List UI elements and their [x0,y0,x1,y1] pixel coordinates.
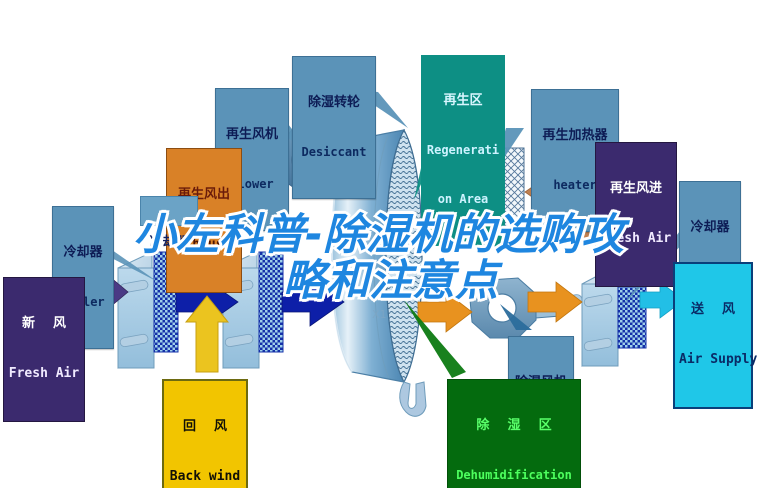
label-regeneration-fresh-air-en: Fresh Air [600,232,672,247]
label-regeneration-area: 再生区 Regenerati on Area [421,55,505,246]
label-cooler-middle-cn: 冷却器 [145,236,193,251]
label-fresh-air: 新 风 Fresh Air [3,277,85,422]
label-regeneration-area-en-2: on Area [425,193,501,206]
label-desiccant-rotor-en: Desiccant [297,146,371,159]
label-desiccant-rotor-cn: 除湿转轮 [297,96,371,111]
diagram-canvas: X1 [0,0,757,488]
label-dehumidification-district: 除 湿 区 Dehumidification District [447,379,581,488]
label-regeneration-fresh-air: 再生风进 Fresh Air [595,142,677,287]
label-back-wind: 回 风 Back wind [162,379,248,488]
label-back-wind-cn: 回 风 [168,420,242,435]
label-fresh-air-cn: 新 风 [8,317,80,332]
label-air-supply-en: Air Supply [679,353,747,368]
label-cooler-right-cn: 冷却器 [684,221,736,236]
label-regeneration-blower-cn: 再生风机 [220,128,284,143]
label-desiccant-rotor: 除湿转轮 Desiccant [292,56,376,199]
label-fresh-air-en: Fresh Air [8,367,80,382]
label-regeneration-area-cn: 再生区 [425,94,501,109]
label-regeneration-area-en-1: Regenerati [425,144,501,157]
label-air-supply-cn: 送 风 [679,303,747,318]
label-regeneration-fresh-air-cn: 再生风进 [600,182,672,197]
label-cooler-left-cn: 冷却器 [57,246,109,261]
label-dehumidification-district-cn: 除 湿 区 [452,419,576,434]
label-air-supply: 送 风 Air Supply [673,262,753,409]
label-dehumidification-district-en-1: Dehumidification [452,469,576,482]
label-cooler-middle: 冷却器 [140,196,198,226]
label-back-wind-en: Back wind [168,470,242,485]
svg-text:X1: X1 [372,308,387,321]
